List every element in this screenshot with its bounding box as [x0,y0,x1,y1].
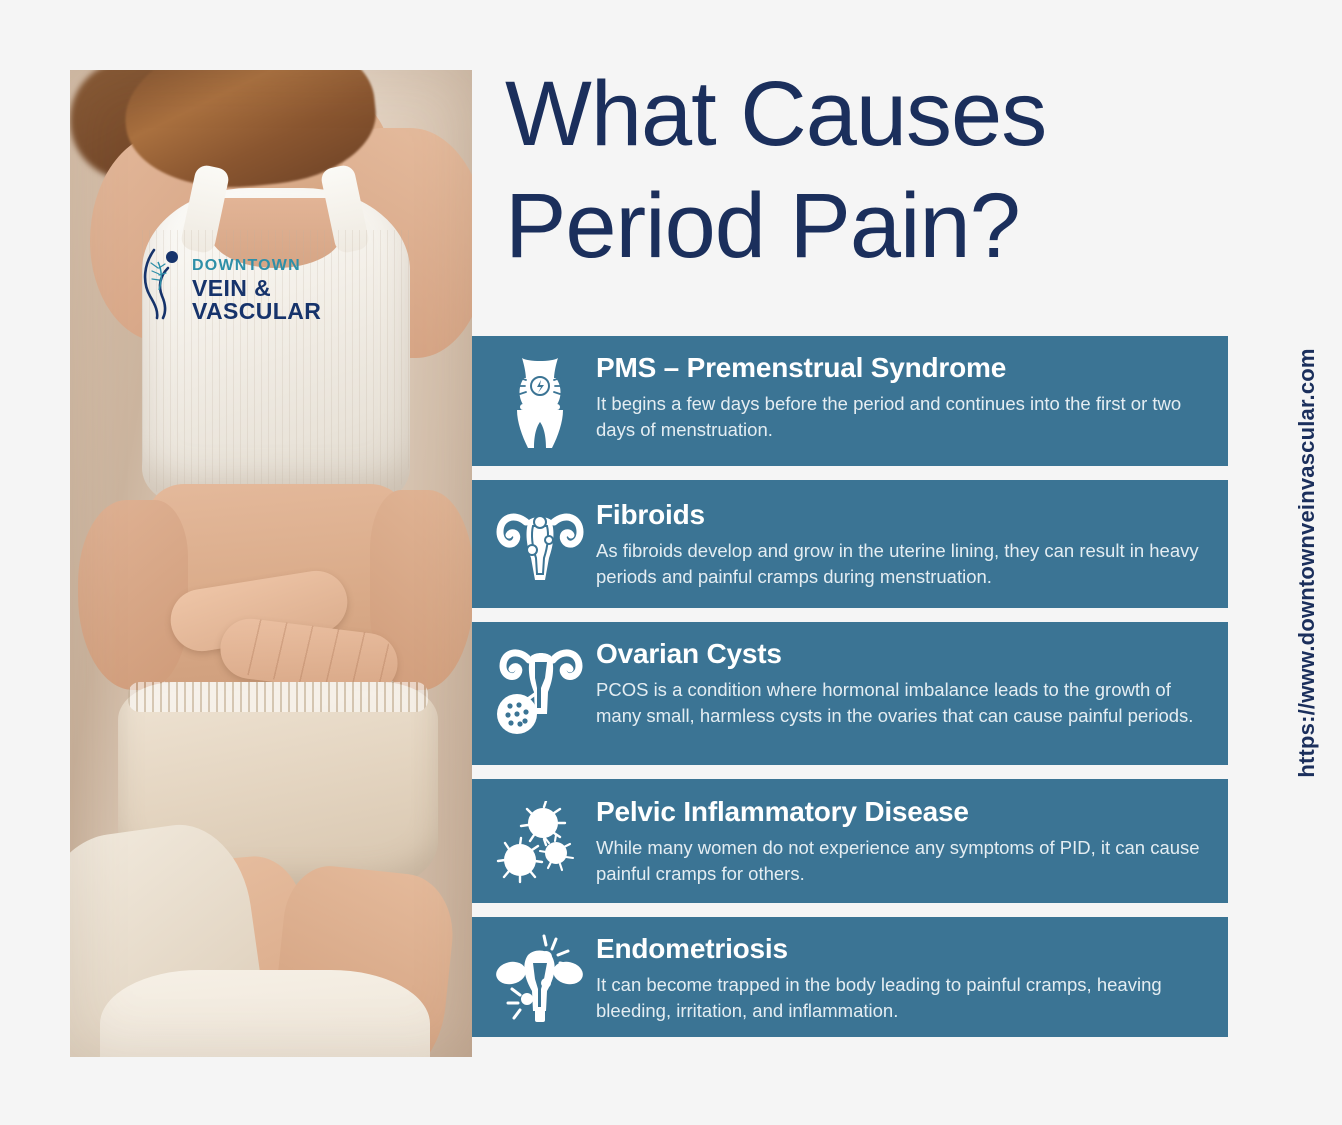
cause-card-pms: PMS – Premenstrual Syndrome It begins a … [472,336,1228,466]
cause-card-body: Ovarian Cysts PCOS is a condition where … [588,636,1210,728]
torso-underwear-cramp-icon [492,350,588,452]
downtown-vein-vascular-logo: DOWNTOWN VEIN & VASCULAR [138,246,370,322]
cause-description: As fibroids develop and grow in the uter… [596,538,1210,589]
cause-card-body: Endometriosis It can become trapped in t… [588,931,1210,1023]
title-line-1: What Causes [505,58,1205,170]
cause-description: It begins a few days before the period a… [596,391,1210,442]
uterus-fibroids-icon [492,500,588,588]
uterus-inflammation-icon [492,927,588,1027]
logo-wordmark: DOWNTOWN VEIN & VASCULAR [192,246,370,323]
website-url[interactable]: https://www.downtownveinvascular.com [1294,348,1320,777]
cause-card-pid: Pelvic Inflammatory Disease While many w… [472,779,1228,903]
bacteria-cluster-icon [492,795,588,887]
title-line-2: Period Pain? [505,170,1205,282]
causes-list: PMS – Premenstrual Syndrome It begins a … [472,336,1228,1037]
photo-vignette [70,70,472,1057]
cause-description: It can become trapped in the body leadin… [596,972,1210,1023]
cause-title: Endometriosis [596,933,1210,965]
page-title: What Causes Period Pain? [505,58,1205,282]
cause-card-ovarian-cysts: Ovarian Cysts PCOS is a condition where … [472,622,1228,765]
cause-title: Ovarian Cysts [596,638,1210,670]
cause-description: PCOS is a condition where hormonal imbal… [596,677,1210,728]
infographic-poster: DOWNTOWN VEIN & VASCULAR What Causes Per… [0,0,1342,1125]
uterus-ovarian-cyst-icon [492,636,588,734]
cause-title: PMS – Premenstrual Syndrome [596,352,1210,384]
cause-card-body: PMS – Premenstrual Syndrome It begins a … [588,350,1210,442]
cause-title: Pelvic Inflammatory Disease [596,796,1210,828]
figure-mark-icon [138,248,186,320]
cause-title: Fibroids [596,499,1210,531]
cause-card-endometriosis: Endometriosis It can become trapped in t… [472,917,1228,1037]
logo-line-top: DOWNTOWN [192,258,370,274]
cause-card-fibroids: Fibroids As fibroids develop and grow in… [472,480,1228,608]
cause-card-body: Fibroids As fibroids develop and grow in… [588,499,1210,589]
logo-line-bottom: VEIN & VASCULAR [192,277,370,323]
cause-card-body: Pelvic Inflammatory Disease While many w… [588,796,1210,886]
cause-description: While many women do not experience any s… [596,835,1210,886]
woman-holding-abdomen-photo [70,70,472,1057]
